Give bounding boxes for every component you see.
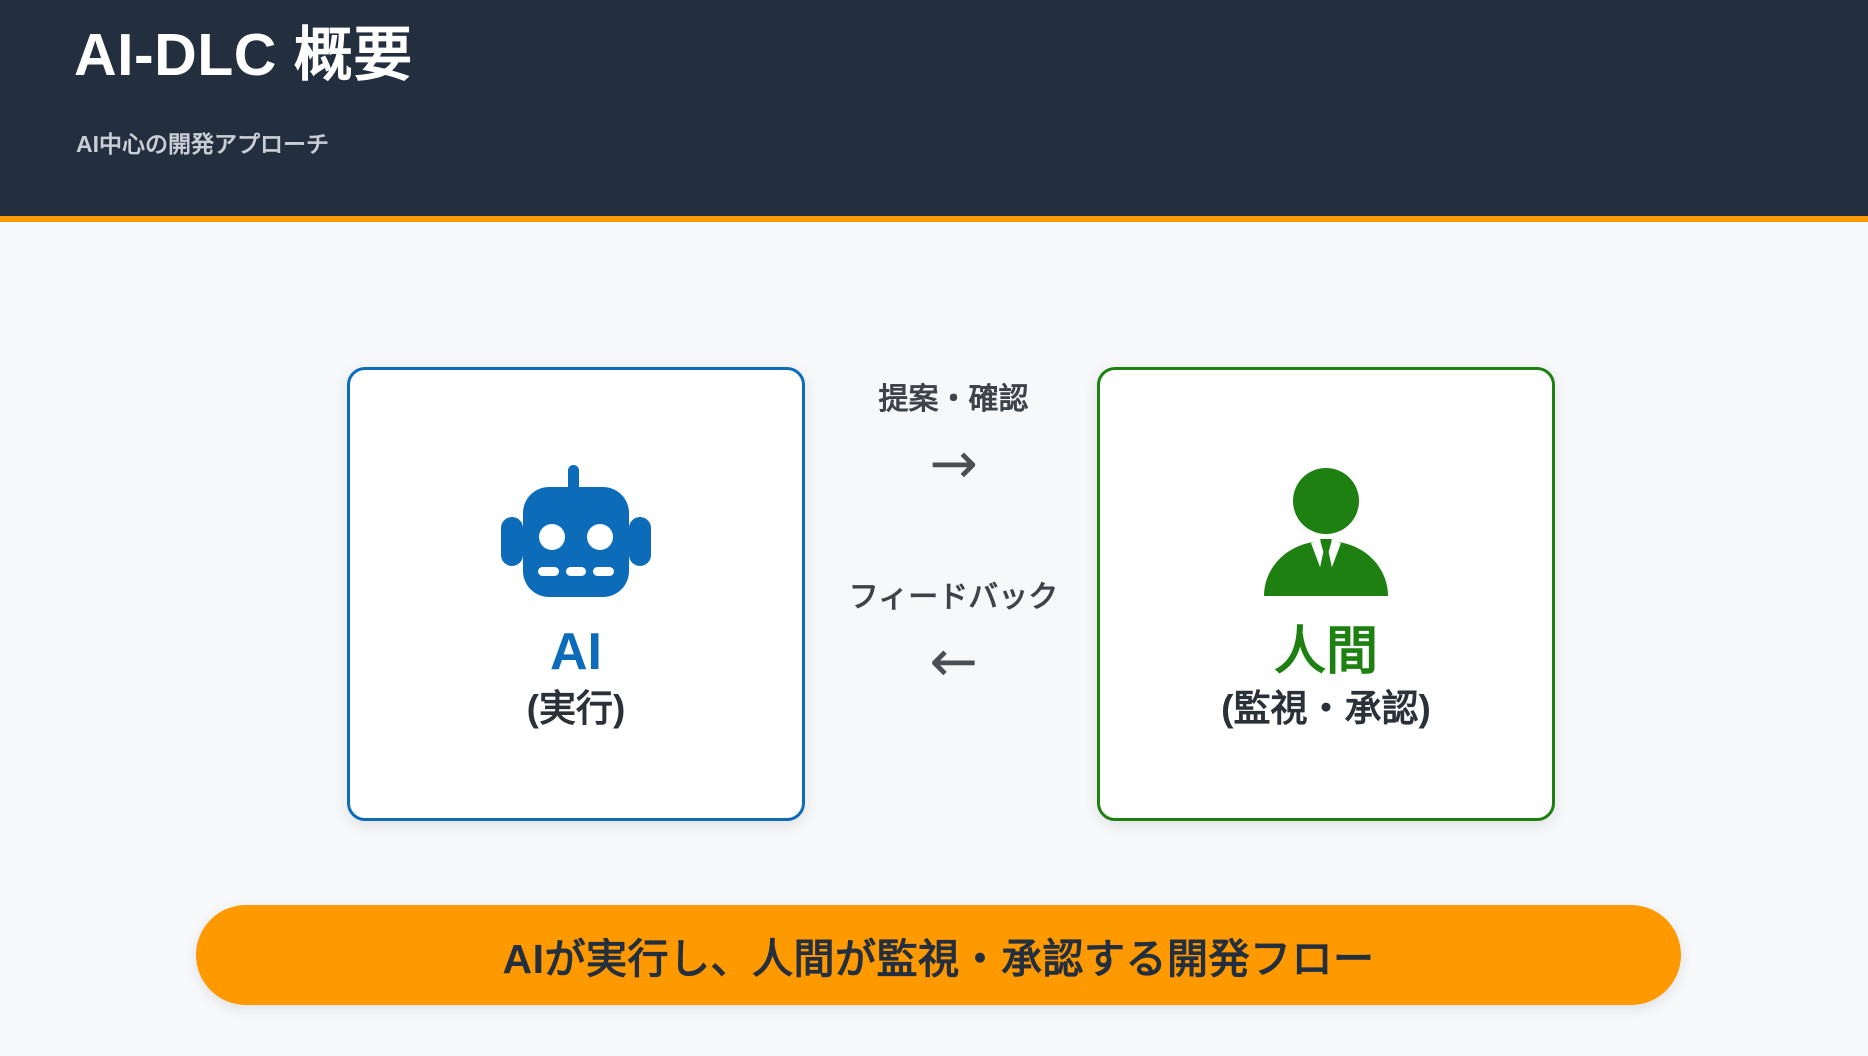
card-human-subtitle: (監視・承認) <box>1221 688 1431 731</box>
card-ai-subtitle: (実行) <box>527 688 626 731</box>
page-subtitle: AI中心の開発アプローチ <box>76 131 329 159</box>
summary-banner: AIが実行し、人間が監視・承認する開発フロー <box>196 905 1681 1005</box>
arrow-right-icon: → <box>810 434 1097 492</box>
connector-ai-to-human: 提案・確認 → <box>810 382 1097 492</box>
businessperson-icon <box>1258 457 1394 607</box>
connector-ai-to-human-label: 提案・確認 <box>810 382 1097 418</box>
card-ai-title: AI <box>550 625 602 680</box>
header-bar: AI-DLC 概要 AI中心の開発アプローチ <box>0 0 1868 222</box>
robot-icon <box>501 457 651 607</box>
connector-human-to-ai-label: フィードバック <box>810 580 1097 616</box>
page-title: AI-DLC 概要 <box>74 22 413 90</box>
summary-banner-text: AIが実行し、人間が監視・承認する開発フロー <box>503 925 1375 985</box>
arrow-left-icon: ← <box>810 632 1097 690</box>
card-human-title: 人間 <box>1274 625 1378 680</box>
connector-human-to-ai: フィードバック ← <box>810 580 1097 690</box>
flow-connectors: 提案・確認 → フィードバック ← <box>810 367 1097 821</box>
card-ai[interactable]: AI (実行) <box>347 367 805 821</box>
card-human[interactable]: 人間 (監視・承認) <box>1097 367 1555 821</box>
slide-root: AI-DLC 概要 AI中心の開発アプローチ <box>0 0 1868 1056</box>
flow-diagram: AI (実行) 提案・確認 → フィードバック ← <box>0 222 1868 842</box>
